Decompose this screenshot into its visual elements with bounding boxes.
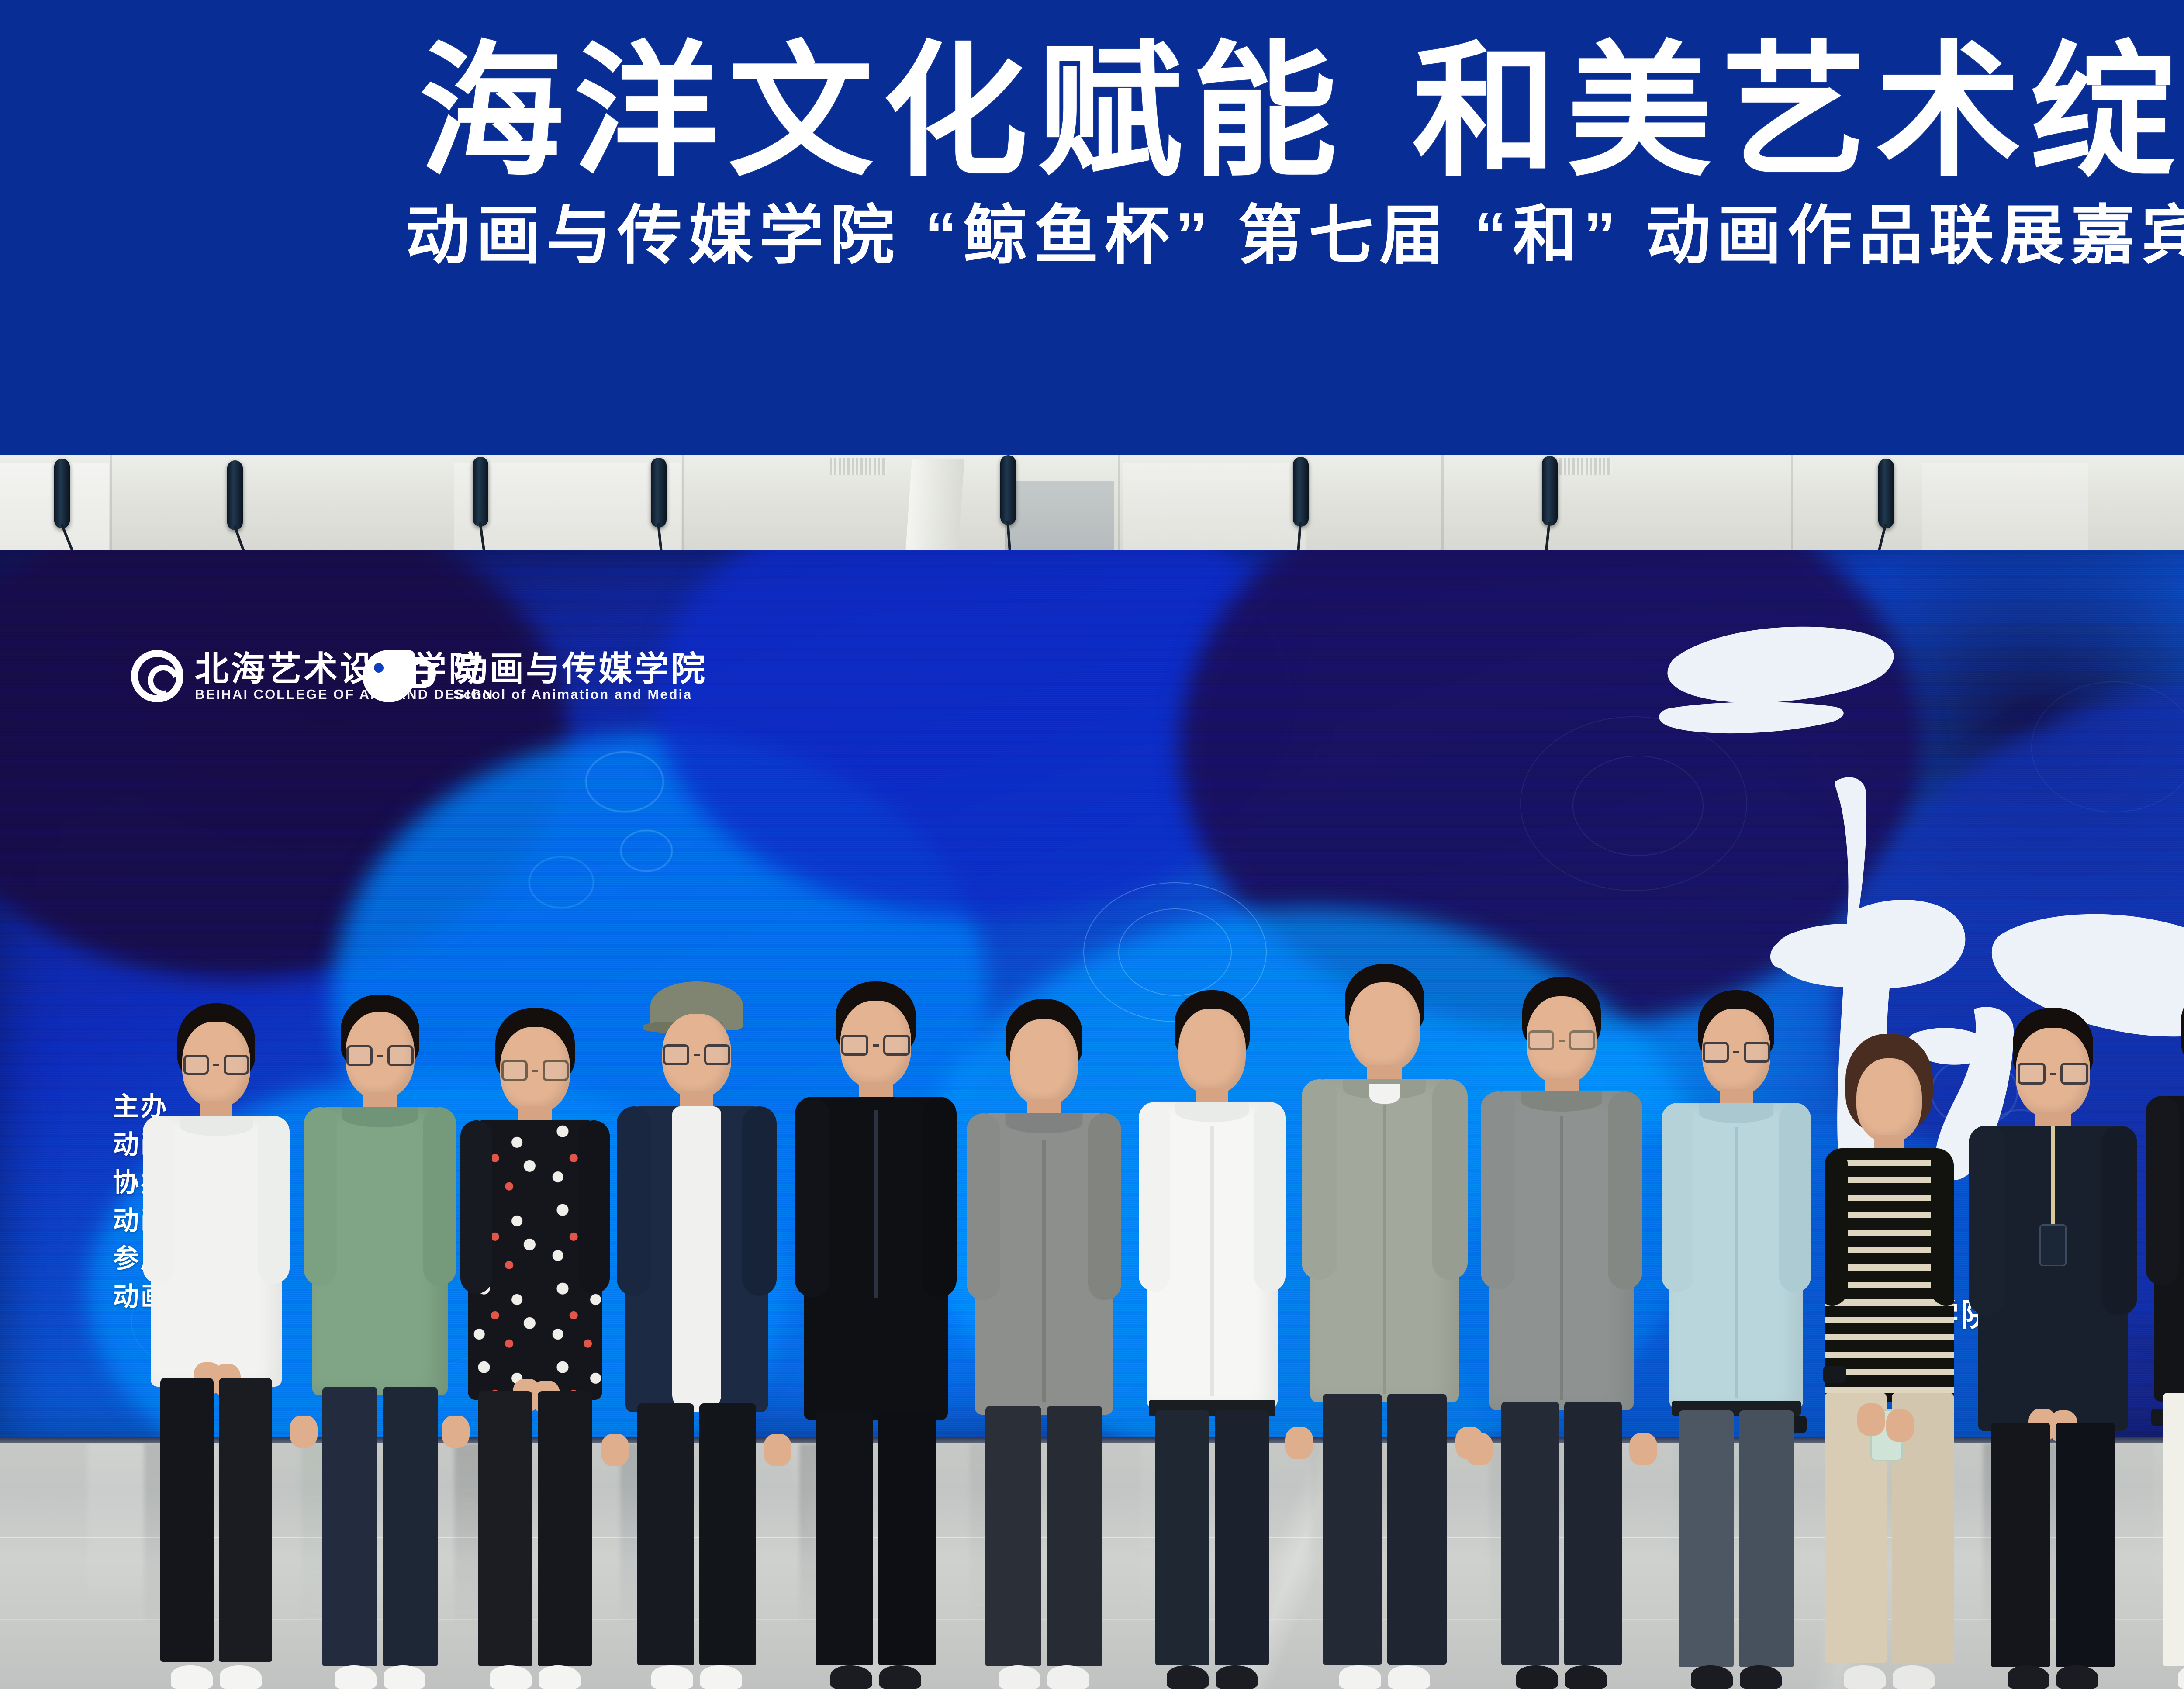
legs	[637, 1403, 756, 1665]
legs	[478, 1391, 592, 1666]
banner-title-left: 海洋文化赋能	[419, 38, 1347, 187]
shoes	[171, 1665, 262, 1689]
shoes	[999, 1665, 1089, 1689]
torso	[468, 1120, 602, 1400]
shoes	[830, 1665, 921, 1689]
dolphin-d-icon	[363, 650, 415, 702]
person-11	[1817, 1034, 1961, 1689]
legs	[1155, 1410, 1269, 1665]
shoes	[1516, 1665, 1607, 1689]
shirt-placket	[1735, 1127, 1738, 1398]
legs	[2163, 1393, 2184, 1666]
legs	[1501, 1402, 1622, 1665]
undershirt	[1369, 1084, 1400, 1104]
banner-title: 海洋文化赋能 和美艺术绽放	[419, 38, 2184, 187]
person-8	[1306, 964, 1463, 1689]
torso	[1147, 1102, 1278, 1408]
legs	[816, 1411, 936, 1665]
event-banner: 海洋文化赋能 和美艺术绽放 动画与传媒学院 “鲸鱼杯” 第七届 “和” 动画作品…	[0, 0, 2184, 455]
glasses	[841, 1035, 910, 1056]
shirt-placket	[1560, 1116, 1563, 1400]
torso	[804, 1097, 948, 1420]
person-5	[799, 981, 952, 1689]
torso	[151, 1116, 282, 1387]
shoes	[1844, 1665, 1935, 1689]
torso	[1825, 1148, 1954, 1402]
shirt-placket	[874, 1110, 878, 1298]
torso	[1310, 1079, 1459, 1402]
person-7	[1140, 990, 1284, 1689]
glasses	[346, 1045, 414, 1066]
wristwatch	[1823, 1366, 1846, 1383]
glasses	[1703, 1042, 1770, 1063]
person-9	[1485, 977, 1638, 1689]
id-badge	[2039, 1224, 2067, 1266]
logo-school-animation-cn: 动画与传媒学院	[453, 650, 707, 687]
logo-school-of-animation-and-media: 动画与传媒学院 School of Animation and Media	[363, 650, 707, 702]
legs	[1991, 1423, 2115, 1667]
torso	[2154, 1096, 2184, 1402]
head	[1349, 982, 1420, 1071]
person-4	[620, 981, 773, 1689]
torso	[1489, 1091, 1634, 1410]
ceiling	[0, 455, 2184, 558]
person-10	[1664, 990, 1808, 1689]
shirt-placket	[1042, 1140, 1046, 1402]
glasses	[663, 1044, 730, 1065]
inner-tee	[672, 1106, 721, 1412]
shirt-placket	[1210, 1126, 1214, 1396]
torso	[1978, 1126, 2128, 1431]
legs	[160, 1378, 272, 1662]
logo-school-animation-en: School of Animation and Media	[453, 687, 707, 701]
screenshot-root: 海洋文化赋能 和美艺术绽放 动画与传媒学院 “鲸鱼杯” 第七届 “和” 动画作品…	[0, 0, 2184, 1689]
shoes	[2008, 1665, 2098, 1689]
person-6	[970, 999, 1118, 1689]
person-12	[1974, 1008, 2132, 1689]
glasses	[501, 1060, 569, 1081]
shoes	[1339, 1665, 1430, 1689]
legs	[985, 1406, 1102, 1666]
head	[1178, 1009, 1246, 1094]
shirt-placket	[1383, 1105, 1386, 1394]
person-2	[306, 995, 454, 1689]
shoes	[1691, 1665, 1782, 1689]
glasses	[2018, 1063, 2088, 1085]
person-1	[144, 1003, 288, 1689]
person-3	[463, 1008, 607, 1689]
shoes	[2178, 1665, 2184, 1689]
person-13	[2149, 981, 2184, 1689]
banner-title-right: 和美艺术绽放	[1412, 38, 2184, 187]
head	[1856, 1058, 1922, 1142]
torso	[1669, 1103, 1803, 1409]
torso	[625, 1106, 768, 1412]
spiral-wave-icon	[131, 650, 183, 702]
legs	[1323, 1394, 1447, 1665]
torso	[975, 1113, 1113, 1415]
shoes	[1167, 1665, 1258, 1689]
legs	[322, 1387, 438, 1666]
glasses	[1528, 1030, 1595, 1050]
torso	[312, 1107, 448, 1395]
shoes	[490, 1665, 581, 1689]
group-photograph: 北海艺术设计学院 BEIHAI COLLEGE OF ART AND DESIG…	[0, 455, 2184, 1689]
shoes	[335, 1665, 425, 1689]
glasses	[183, 1055, 249, 1075]
lanyard	[2051, 1126, 2055, 1226]
legs	[1679, 1410, 1794, 1667]
head	[1010, 1019, 1078, 1105]
banner-subtitle: 动画与传媒学院 “鲸鱼杯” 第七届 “和” 动画作品联展嘉宾合影	[405, 200, 2184, 272]
hair	[2181, 981, 2184, 1075]
shoes	[651, 1665, 742, 1689]
